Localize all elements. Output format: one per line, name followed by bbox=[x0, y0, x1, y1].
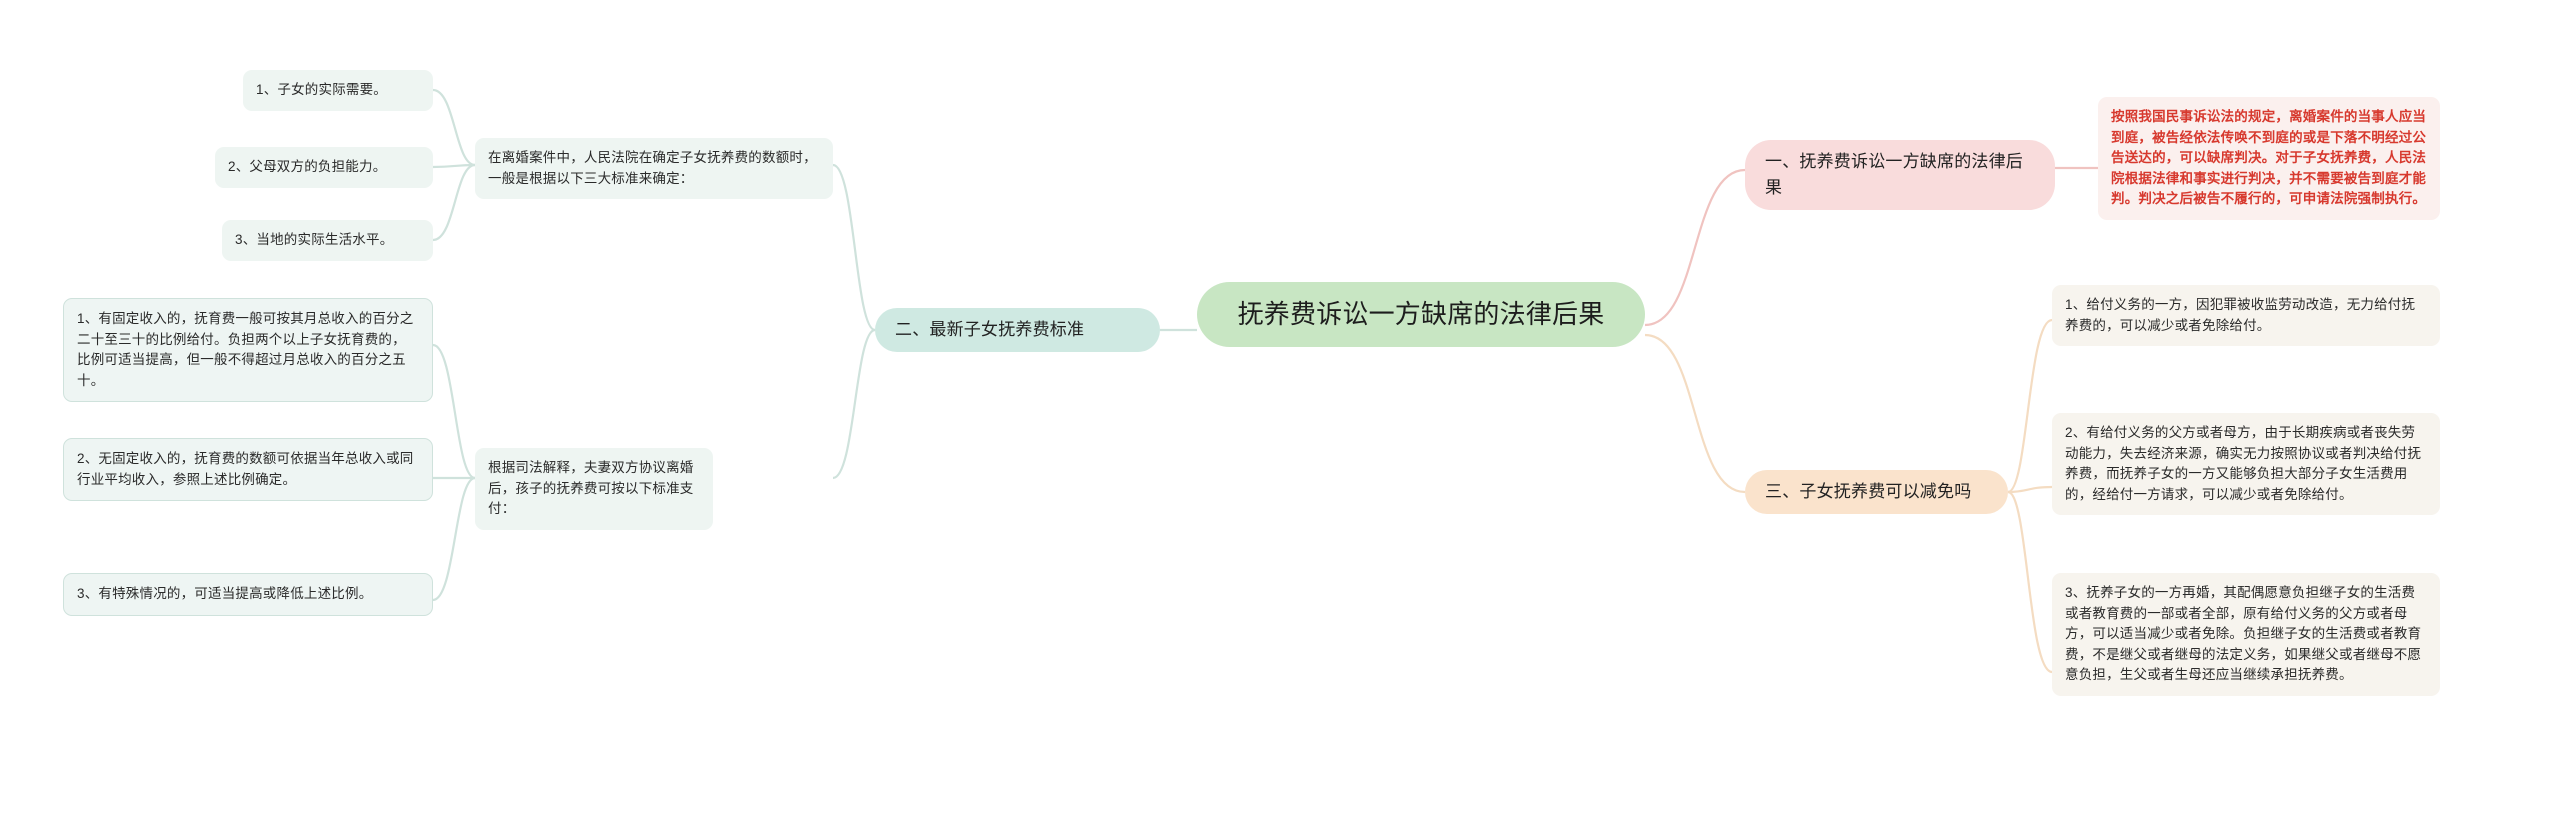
branch-node-1[interactable]: 一、抚养费诉讼一方缺席的法律后果 bbox=[1745, 140, 2055, 210]
branch-2-leaf-2-2[interactable]: 2、无固定收入的，抚育费的数额可依据当年总收入或同行业平均收入，参照上述比例确定… bbox=[63, 438, 433, 501]
branch-node-3-label: 三、子女抚养费可以减免吗 bbox=[1765, 479, 1988, 505]
link-leaf2-sub3 bbox=[433, 478, 475, 600]
branch-2-leaf-2-label: 根据司法解释，夫妻双方协议离婚后，孩子的抚养费可按以下标准支付： bbox=[488, 458, 700, 520]
root-node[interactable]: 抚养费诉讼一方缺席的法律后果 bbox=[1197, 282, 1645, 347]
branch-2-leaf-2-1[interactable]: 1、有固定收入的，抚育费一般可按其月总收入的百分之二十至三十的比例给付。负担两个… bbox=[63, 298, 433, 402]
branch-2-leaf-1-label: 在离婚案件中，人民法院在确定子女抚养费的数额时，一般是根据以下三大标准来确定： bbox=[488, 148, 820, 189]
branch-3-leaf-2[interactable]: 2、有给付义务的父方或者母方，由于长期疾病或者丧失劳动能力，失去经济来源，确实无… bbox=[2052, 413, 2440, 515]
branch-2-leaf-1-3[interactable]: 3、当地的实际生活水平。 bbox=[222, 220, 433, 261]
branch-3-leaf-3-label: 3、抚养子女的一方再婚，其配偶愿意负担继子女的生活费或者教育费的一部或者全部，原… bbox=[2065, 583, 2427, 686]
branch-node-2-label: 二、最新子女抚养费标准 bbox=[895, 317, 1140, 343]
link-branch3-leaf3 bbox=[2008, 492, 2052, 672]
link-branch3-leaf1 bbox=[2008, 320, 2052, 492]
link-branch2-leaf1 bbox=[833, 165, 875, 330]
link-leaf1-sub2 bbox=[433, 165, 475, 167]
branch-2-leaf-2-3[interactable]: 3、有特殊情况的，可适当提高或降低上述比例。 bbox=[63, 573, 433, 616]
branch-2-leaf-2-3-label: 3、有特殊情况的，可适当提高或降低上述比例。 bbox=[77, 584, 419, 605]
branch-1-leaf-1-label: 按照我国民事诉讼法的规定，离婚案件的当事人应当到庭，被告经依法传唤不到庭的或是下… bbox=[2111, 107, 2427, 210]
root-node-label: 抚养费诉讼一方缺席的法律后果 bbox=[1223, 296, 1619, 333]
link-branch2-leaf2 bbox=[833, 330, 875, 478]
branch-2-leaf-1-3-label: 3、当地的实际生活水平。 bbox=[235, 230, 420, 251]
branch-3-leaf-1-label: 1、给付义务的一方，因犯罪被收监劳动改造，无力给付抚养费的，可以减少或者免除给付… bbox=[2065, 295, 2427, 336]
branch-2-leaf-1-1[interactable]: 1、子女的实际需要。 bbox=[243, 70, 433, 111]
branch-1-leaf-1[interactable]: 按照我国民事诉讼法的规定，离婚案件的当事人应当到庭，被告经依法传唤不到庭的或是下… bbox=[2098, 97, 2440, 220]
branch-node-3[interactable]: 三、子女抚养费可以减免吗 bbox=[1745, 470, 2008, 514]
branch-2-leaf-1[interactable]: 在离婚案件中，人民法院在确定子女抚养费的数额时，一般是根据以下三大标准来确定： bbox=[475, 138, 833, 199]
mindmap-canvas: 抚养费诉讼一方缺席的法律后果 一、抚养费诉讼一方缺席的法律后果 按照我国民事诉讼… bbox=[0, 0, 2560, 813]
branch-2-leaf-2[interactable]: 根据司法解释，夫妻双方协议离婚后，孩子的抚养费可按以下标准支付： bbox=[475, 448, 713, 530]
branch-2-leaf-2-1-label: 1、有固定收入的，抚育费一般可按其月总收入的百分之二十至三十的比例给付。负担两个… bbox=[77, 309, 419, 391]
branch-node-1-label: 一、抚养费诉讼一方缺席的法律后果 bbox=[1765, 149, 2035, 201]
link-root-branch1 bbox=[1645, 170, 1745, 325]
link-leaf1-sub1 bbox=[433, 90, 475, 165]
link-branch3-leaf2 bbox=[2008, 487, 2052, 492]
branch-3-leaf-2-label: 2、有给付义务的父方或者母方，由于长期疾病或者丧失劳动能力，失去经济来源，确实无… bbox=[2065, 423, 2427, 505]
link-root-branch3 bbox=[1645, 335, 1745, 492]
branch-node-2[interactable]: 二、最新子女抚养费标准 bbox=[875, 308, 1160, 352]
branch-2-leaf-1-2[interactable]: 2、父母双方的负担能力。 bbox=[215, 147, 433, 188]
branch-3-leaf-3[interactable]: 3、抚养子女的一方再婚，其配偶愿意负担继子女的生活费或者教育费的一部或者全部，原… bbox=[2052, 573, 2440, 696]
link-leaf2-sub1 bbox=[433, 345, 475, 478]
branch-2-leaf-1-1-label: 1、子女的实际需要。 bbox=[256, 80, 420, 101]
branch-2-leaf-2-2-label: 2、无固定收入的，抚育费的数额可依据当年总收入或同行业平均收入，参照上述比例确定… bbox=[77, 449, 419, 490]
link-leaf1-sub3 bbox=[433, 165, 475, 240]
branch-2-leaf-1-2-label: 2、父母双方的负担能力。 bbox=[228, 157, 420, 178]
branch-3-leaf-1[interactable]: 1、给付义务的一方，因犯罪被收监劳动改造，无力给付抚养费的，可以减少或者免除给付… bbox=[2052, 285, 2440, 346]
